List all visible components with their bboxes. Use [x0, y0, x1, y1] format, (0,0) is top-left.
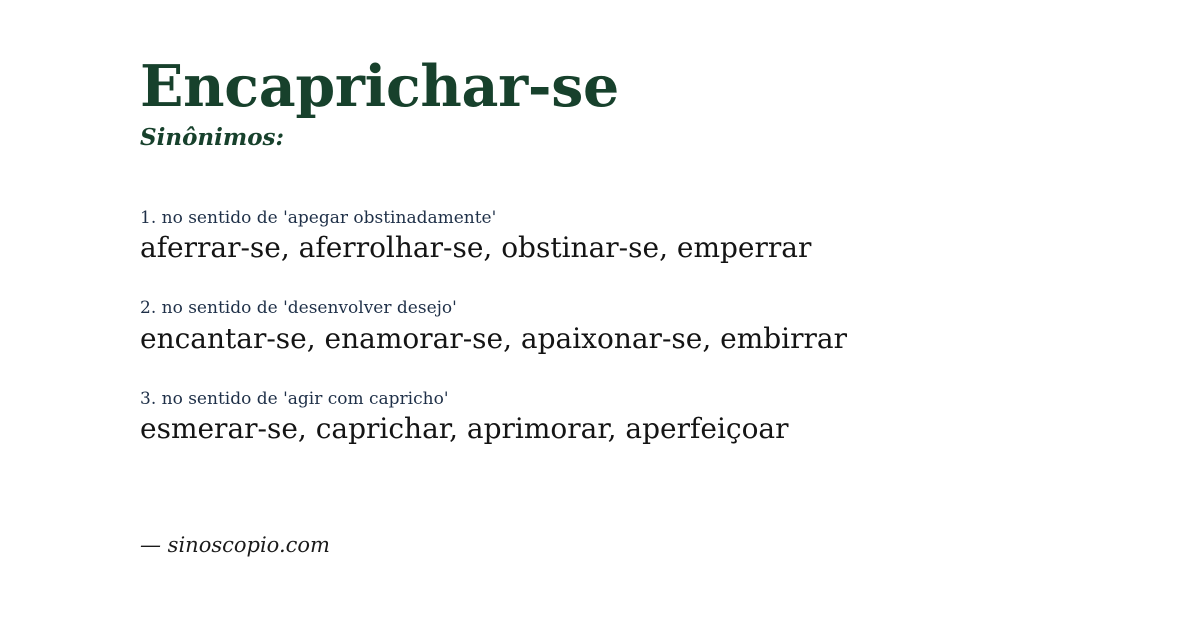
page-title: Encaprichar-se [140, 58, 1160, 115]
sense-synonyms: encantar-se, enamorar-se, apaixonar-se, … [140, 321, 1170, 358]
card-header: Encaprichar-se Sinônimos: [140, 58, 1160, 149]
sense-label: 2. no sentido de 'desenvolver desejo' [140, 298, 1170, 318]
card-footer: — sinoscopio.com [140, 535, 330, 556]
sense-label: 1. no sentido de 'apegar obstinadamente' [140, 208, 1170, 228]
sense-synonyms: aferrar-se, aferrolhar-se, obstinar-se, … [140, 230, 1170, 267]
sense-entry: 1. no sentido de 'apegar obstinadamente'… [140, 208, 1170, 267]
sense-list: 1. no sentido de 'apegar obstinadamente'… [140, 208, 1170, 448]
section-subtitle: Sinônimos: [140, 126, 1160, 149]
sense-label: 3. no sentido de 'agir com capricho' [140, 389, 1170, 409]
sense-entry: 3. no sentido de 'agir com capricho' esm… [140, 389, 1170, 448]
source-attribution: — sinoscopio.com [140, 535, 330, 556]
sense-entry: 2. no sentido de 'desenvolver desejo' en… [140, 298, 1170, 357]
sense-synonyms: esmerar-se, caprichar, aprimorar, aperfe… [140, 411, 1170, 448]
synonym-card: Encaprichar-se Sinônimos: 1. no sentido … [0, 0, 1200, 628]
